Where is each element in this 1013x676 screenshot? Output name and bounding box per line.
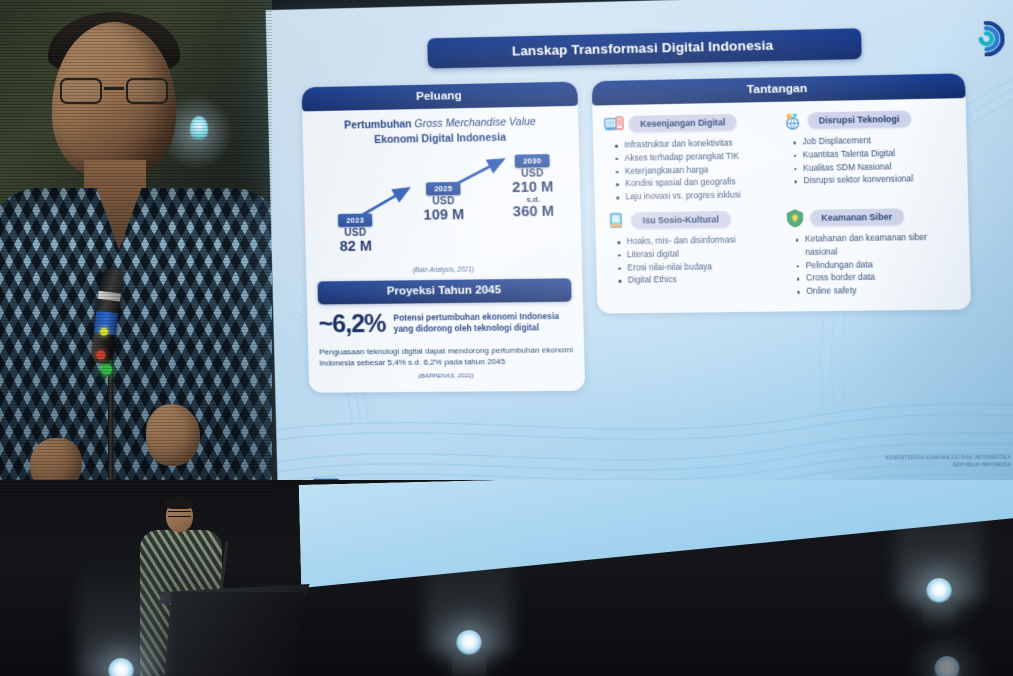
stage-lower-area	[0, 480, 1013, 676]
block-title: Isu Sosio-Kultural	[631, 211, 730, 228]
panel-tantangan: Tantangan	[592, 73, 971, 313]
komdigi-wave-logo-icon	[968, 21, 1005, 57]
slide-footer-ministry: KEMENTERIAN KOMUNIKASI DAN INFORMATIKA R…	[885, 455, 1011, 470]
bullet-list: Ketahanan dan keamanan siber nasional Pe…	[785, 231, 959, 299]
growth-node-2023: 2023 USD 82 M	[318, 209, 394, 256]
presenter-hair	[165, 496, 194, 509]
proyeksi-header: Proyeksi Tahun 2045	[317, 278, 571, 304]
gmv-growth-chart: 2023 USD 82 M 2025 USD 109 M	[314, 149, 571, 272]
gmv-subtitle-italic: Gross Merchandise Value	[414, 117, 535, 130]
growth-year-chip: 2030	[515, 154, 550, 167]
proyeksi-percent-row: ~6,2% Potensi pertumbuhan ekonomi Indone…	[318, 309, 572, 337]
block-header: Keamanan Siber	[784, 205, 957, 228]
block-header: Disrupsi Teknologi	[782, 108, 955, 132]
projected-slide: Lanskap Transformasi Digital Indonesia P…	[266, 0, 1013, 518]
list-item: Ketahanan dan keamanan siber nasional	[795, 231, 958, 259]
growth-node-2025: 2025 USD 109 M	[403, 177, 483, 224]
growth-amount: 109 M	[404, 206, 484, 224]
block-title: Keamanan Siber	[809, 209, 904, 226]
shield-lock-icon	[784, 208, 804, 229]
proyeksi-percent: ~6,2%	[318, 311, 386, 337]
proyeksi-percent-description: Potensi pertumbuhan ekonomi Indonesia ya…	[393, 311, 572, 336]
gmv-subtitle-line2: Ekonomi Digital Indonesia	[374, 132, 506, 146]
list-item: Digital Ethics	[618, 273, 778, 288]
devices-icon	[604, 114, 624, 135]
proyeksi-source: (BAPPENAS, 2022)	[320, 371, 574, 380]
block-header: Kesenjangan Digital	[604, 111, 774, 135]
block-kesenjangan-digital: Kesenjangan Digital Infrastruktur dan ko…	[604, 111, 776, 205]
gmv-subtitle-bold: Pertumbuhan	[344, 119, 412, 131]
footer-line-2: REPUBLIK INDONESIA	[886, 462, 1012, 470]
block-keamanan-siber: Keamanan Siber Ketahanan dan keamanan si…	[784, 205, 959, 299]
bullet-list: Job Displacement Kuantitas Talenta Digit…	[782, 133, 956, 189]
gmv-subtitle: Pertumbuhan Gross Merchandise Value Ekon…	[313, 115, 567, 150]
bullet-list: Hoaks, mis- dan disinformasi Literasi di…	[607, 234, 778, 288]
presenter-glasses-icon	[168, 511, 191, 517]
growth-amount-upper: 360 M	[489, 204, 577, 222]
growth-node-2030: 2030 USD 210 M s.d. 360 M	[488, 149, 578, 221]
podium	[164, 592, 303, 676]
growth-year-chip: 2025	[426, 182, 461, 195]
globe-gear-icon	[782, 111, 802, 132]
list-item: Online safety	[797, 284, 959, 299]
slide-title: Lanskap Transformasi Digital Indonesia	[427, 28, 862, 68]
book-icon	[606, 211, 626, 232]
growth-amount: 82 M	[318, 238, 393, 255]
panel-peluang: Peluang Pertumbuhan Gross Merchandise Va…	[302, 82, 586, 393]
bullet-list: Infrastruktur dan konektivitas Akses ter…	[604, 137, 775, 205]
block-disrupsi-teknologi: Disrupsi Teknologi Job Displacement Kuan…	[782, 108, 957, 202]
video-scanlines	[0, 0, 272, 492]
speaker-video-feed	[0, 0, 272, 492]
block-title: Disrupsi Teknologi	[807, 111, 911, 129]
block-header: Isu Sosio-Kultural	[606, 208, 776, 231]
list-item: Disrupsi sektor konvensional	[794, 173, 956, 189]
growth-year-chip: 2023	[338, 213, 372, 226]
list-item: Laju inovasi vs. progres inklusi	[616, 189, 776, 205]
block-title: Kesenjangan Digital	[629, 114, 737, 132]
block-isu-sosio-kultural: Isu Sosio-Kultural Hoaks, mis- dan disin…	[606, 208, 778, 301]
proyeksi-paragraph: Penguasaan teknologi digital dapat mendo…	[319, 344, 573, 370]
